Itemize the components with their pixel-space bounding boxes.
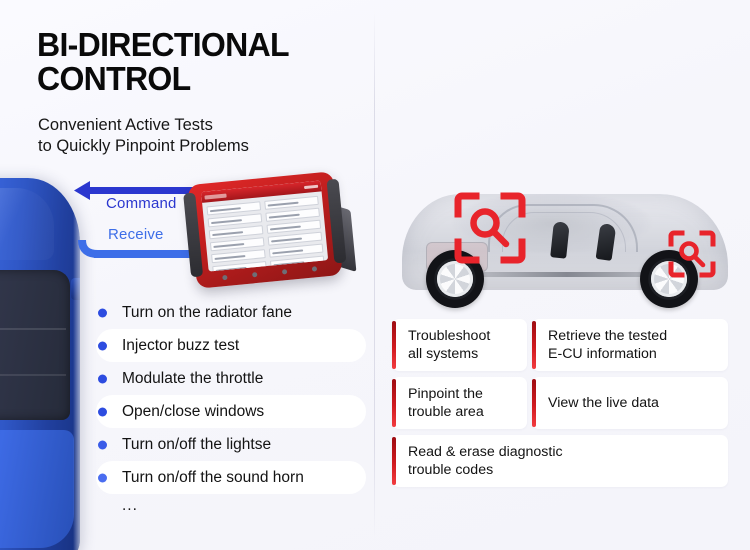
feature-accent-bar [392,437,396,485]
list-item-label: Injector buzz test [122,337,239,355]
feature-accent-bar [532,321,536,369]
feature-box-pinpoint[interactable]: Pinpoint the trouble area [392,377,527,429]
list-item-label: Open/close windows [122,403,264,421]
tablet-screen-list [202,191,328,271]
scan-frame-rear-icon [668,230,716,278]
list-more-indicator: ... [122,497,138,515]
feature-accent-bar [392,379,396,427]
list-item-label: Turn on/off the sound horn [122,469,304,487]
list-item: Turn on the radiator fane [96,296,366,329]
feature-label: Retrieve the tested E-CU information [548,327,667,363]
feature-label: Troubleshoot all systems [408,327,490,363]
list-item: Open/close windows [96,395,366,428]
feature-row: Read & erase diagnostic trouble codes [392,435,728,487]
list-item-label: Modulate the throttle [122,370,263,388]
tablet-body [187,171,342,289]
left-panel: BI-DIRECTIONAL CONTROL Convenient Active… [0,0,375,550]
feature-box-troubleshoot[interactable]: Troubleshoot all systems [392,319,527,371]
feature-label: Pinpoint the trouble area [408,385,484,421]
blue-car-top-view-image [0,178,80,550]
diagnostic-tablet-image [187,171,342,289]
feature-box-retrieve-ecu[interactable]: Retrieve the tested E-CU information [532,319,728,371]
list-item: Turn on/off the sound horn [96,461,366,494]
receive-label: Receive [108,226,164,243]
left-subtitle: Convenient Active Tests to Quickly Pinpo… [38,115,249,157]
xray-car-image [396,186,736,310]
list-item: Modulate the throttle [96,362,366,395]
bullet-dot-icon [98,440,107,449]
left-headline: BI-DIRECTIONAL CONTROL [37,28,289,96]
list-item-label: Turn on the radiator fane [122,304,292,322]
feature-box-live-data[interactable]: View the live data [532,377,728,429]
bullet-dot-icon [98,308,107,317]
active-test-list: Turn on the radiator fane Injector buzz … [96,296,366,494]
feature-row: Pinpoint the trouble area View the live … [392,377,728,429]
car-roof-seam-2 [0,374,66,376]
feature-box-read-erase-dtc[interactable]: Read & erase diagnostic trouble codes [392,435,728,487]
bullet-dot-icon [98,374,107,383]
bullet-dot-icon [98,473,107,482]
car-roof-seam [0,328,66,330]
bullet-dot-icon [98,407,107,416]
tablet-screen [201,180,328,271]
feature-accent-bar [532,379,536,427]
promo-banner: BI-DIRECTIONAL CONTROL Convenient Active… [0,0,750,550]
feature-row: Troubleshoot all systems Retrieve the te… [392,319,728,371]
command-label: Command [106,195,177,212]
scan-frame-front-icon [454,192,526,264]
bullet-dot-icon [98,341,107,350]
feature-label: Read & erase diagnostic trouble codes [408,443,563,479]
feature-box-grid: Troubleshoot all systems Retrieve the te… [392,319,728,493]
car-hood [0,430,74,548]
feature-label: View the live data [548,394,659,412]
xray-front-seat [550,221,570,258]
feature-accent-bar [392,321,396,369]
list-item-label: Turn on/off the lightse [122,436,271,454]
list-item: Turn on/off the lightse [96,428,366,461]
xray-rear-seat [596,223,617,261]
list-item: Injector buzz test [96,329,366,362]
